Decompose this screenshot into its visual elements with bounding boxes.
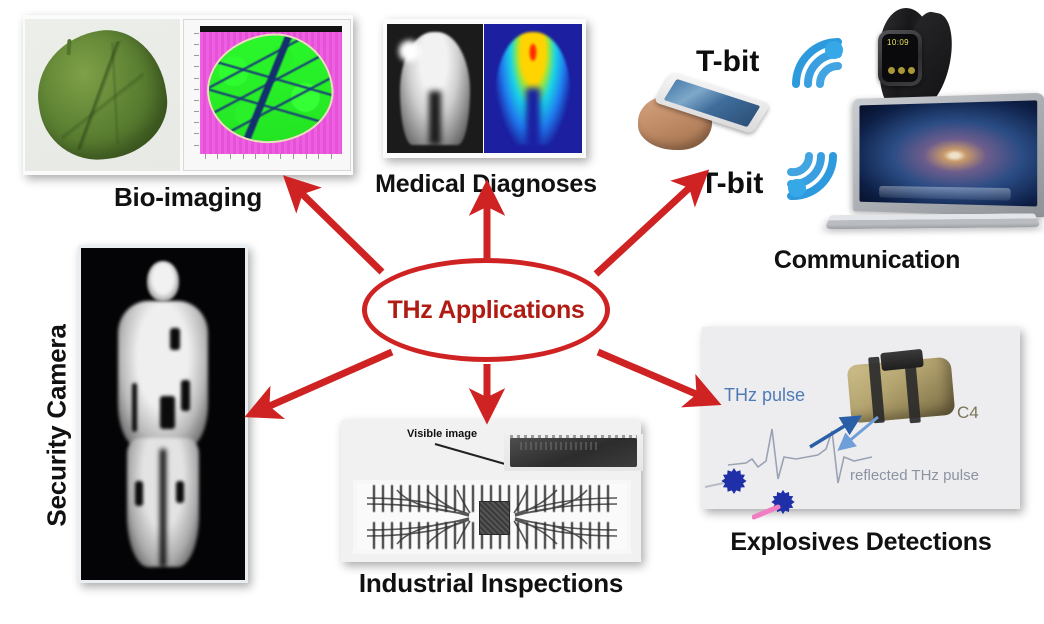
t-bit-label-lower: T-bit (700, 167, 763, 201)
arrow-to-explosives-detections (598, 352, 710, 400)
leaf-stem (66, 39, 71, 55)
laptop-dock (879, 186, 1010, 201)
reflected-beam-arrow (834, 413, 894, 461)
laptop-screen-galaxy-wallpaper (859, 100, 1037, 206)
smartphone-in-hand (638, 78, 766, 154)
thz-leaf-plot-area (200, 26, 342, 154)
tooth-bright-spot (397, 37, 422, 65)
terahertz-leaf-image (183, 19, 351, 171)
tooth-shape-false-color (496, 32, 570, 146)
industrial-inspections-image-card: Visible image (341, 420, 641, 562)
security-camera-caption: Security Camera (42, 311, 73, 541)
burst-tail (704, 479, 728, 493)
bio-imaging-caption: Bio-imaging (23, 182, 353, 213)
leaf-shape (30, 23, 175, 168)
laptop-base (825, 213, 1041, 229)
visible-leaf-photo (25, 19, 180, 171)
bio-imaging-image-card (23, 15, 353, 175)
medical-diagnoses-image-card (383, 19, 586, 158)
watch-body: 10:09 (878, 30, 922, 86)
center-node-label: THz Applications (387, 296, 584, 325)
lead-frame-traces (357, 484, 627, 550)
concealed-object (176, 481, 184, 502)
concealed-object (181, 380, 190, 411)
laptop (828, 96, 1040, 256)
arrow-to-communication (596, 178, 700, 274)
visible-image-leader-line (433, 442, 513, 468)
thz-pulse-annotation: THz pulse (724, 385, 805, 406)
lead-frame-area (357, 484, 627, 550)
terahertz-lead-frame-image (353, 480, 631, 554)
communication-caption: Communication (742, 246, 992, 275)
scanned-body (107, 261, 219, 566)
chip-body (510, 438, 637, 467)
wifi-signal-icon (788, 34, 848, 90)
thz-leaf-shape (203, 30, 335, 147)
terahertz-tooth-image (484, 24, 582, 153)
thz-applications-figure: Bio-imaging Medical Diagnoses T-bit T-bi… (0, 0, 1044, 624)
grayscale-tooth-image (387, 24, 483, 153)
burst-tail (752, 503, 784, 521)
watch-time-readout: 10:09 (887, 38, 909, 47)
thz-leaf-y-axis (192, 28, 200, 152)
concealed-object (170, 328, 180, 349)
thz-leaf-colorbar (200, 26, 342, 32)
concealed-object (160, 396, 176, 430)
c4-annotation: C4 (957, 403, 979, 423)
terahertz-body-scan-image (81, 248, 245, 580)
thz-leaf-x-axis (202, 154, 342, 162)
center-node-thz-applications[interactable]: THz Applications (362, 258, 610, 362)
explosives-detections-image-card: THz pulse C4 reflected THz pulse (702, 327, 1020, 509)
medical-diagnoses-caption: Medical Diagnoses (368, 170, 604, 199)
integrated-circuit-photo (504, 434, 643, 471)
body-head (147, 261, 178, 301)
concealed-object (135, 481, 143, 505)
arrow-to-security-camera (256, 352, 392, 412)
industrial-inspections-caption: Industrial Inspections (341, 568, 641, 599)
watch-face: 10:09 (882, 34, 918, 82)
concealed-object (132, 383, 138, 432)
explosives-detections-caption: Explosives Detections (702, 528, 1020, 557)
watch-complications (886, 58, 914, 76)
t-bit-label-upper: T-bit (696, 45, 759, 79)
visible-image-annotation: Visible image (407, 428, 477, 440)
security-camera-image-card (78, 245, 248, 583)
laptop-lid (853, 93, 1044, 218)
